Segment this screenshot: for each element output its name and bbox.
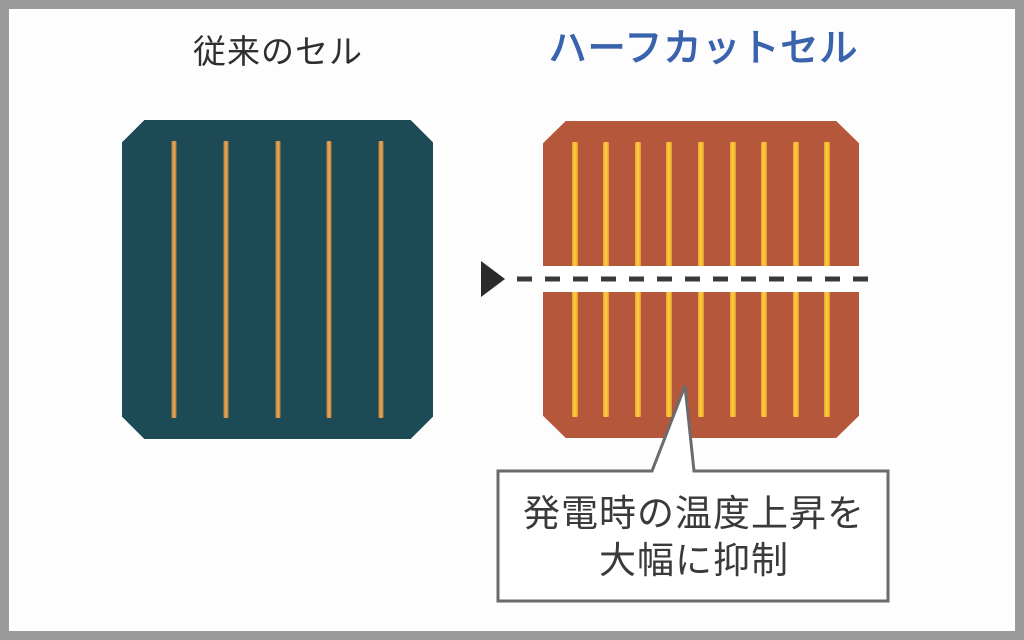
figure-root: 従来のセル ハーフカットセル 発電時の温度上昇を 大幅に抑制	[0, 0, 1024, 640]
busbar	[327, 141, 332, 419]
busbar	[275, 141, 280, 419]
busbar	[379, 141, 384, 419]
panel-title-conventional: 従来のセル	[0, 35, 556, 68]
busbar	[171, 141, 176, 419]
panel-title-half-cut: ハーフカットセル	[506, 30, 901, 68]
busbar	[223, 141, 228, 419]
callout-line-1: 発電時の温度上昇を	[497, 490, 891, 537]
callout-text: 発電時の温度上昇を 大幅に抑制	[497, 490, 891, 585]
cut-line-dashed	[515, 276, 883, 282]
play-triangle-icon	[479, 260, 507, 298]
solar-cell-conventional	[122, 120, 433, 439]
callout-line-2: 大幅に抑制	[497, 537, 891, 584]
